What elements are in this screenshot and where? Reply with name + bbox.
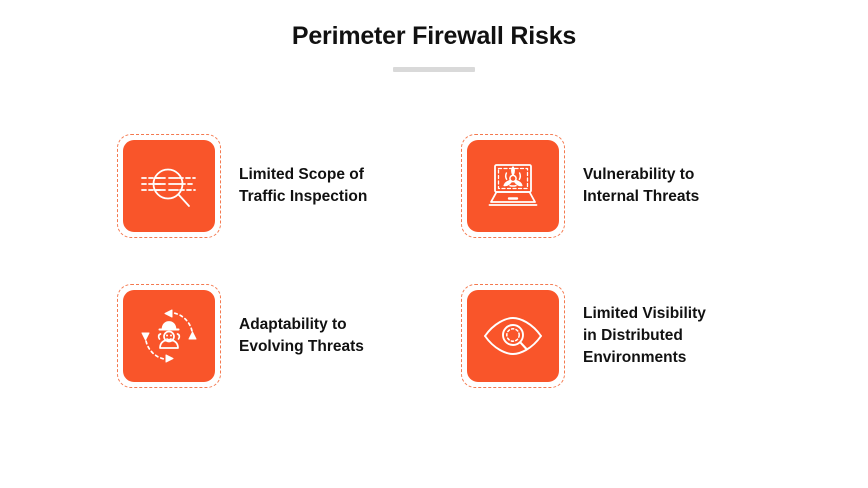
icon-tile-2	[461, 134, 565, 238]
risk-items-grid: Limited Scope of Traffic Inspection	[117, 134, 817, 388]
icon-tile-2-fill	[467, 140, 559, 232]
laptop-biohazard-icon	[484, 161, 542, 211]
slide-canvas: Perimeter Firewall Risks	[0, 0, 868, 488]
risk-item-3-label: Adaptability to Evolving Threats	[239, 314, 364, 358]
risk-item-limited-visibility-in-distributed-environments[interactable]: Limited Visibility in Distributed Enviro…	[461, 284, 805, 388]
risk-item-3-label-line-2: Evolving Threats	[239, 336, 364, 358]
title-block: Perimeter Firewall Risks	[0, 22, 868, 72]
risk-item-4-label: Limited Visibility in Distributed Enviro…	[583, 303, 706, 369]
page-title: Perimeter Firewall Risks	[0, 22, 868, 51]
icon-tile-1	[117, 134, 221, 238]
risk-item-adaptability-to-evolving-threats[interactable]: Adaptability to Evolving Threats	[117, 284, 461, 388]
icon-tile-3-fill	[123, 290, 215, 382]
icon-tile-3	[117, 284, 221, 388]
risk-items-row-2: Adaptability to Evolving Threats	[117, 284, 817, 388]
icon-tile-4	[461, 284, 565, 388]
risk-item-2-label: Vulnerability to Internal Threats	[583, 164, 699, 208]
risk-item-vulnerability-to-internal-threats[interactable]: Vulnerability to Internal Threats	[461, 134, 805, 238]
magnifier-traffic-lines-icon	[139, 158, 199, 214]
icon-tile-1-fill	[123, 140, 215, 232]
eye-magnifier-icon	[482, 314, 544, 358]
risk-item-4-label-line-2: in Distributed	[583, 325, 706, 347]
hacker-rotating-arrows-icon	[141, 308, 197, 364]
risk-items-row-1: Limited Scope of Traffic Inspection	[117, 134, 817, 238]
icon-tile-4-fill	[467, 290, 559, 382]
title-divider	[393, 67, 475, 72]
risk-item-4-label-line-1: Limited Visibility	[583, 303, 706, 325]
risk-item-limited-scope-of-traffic-inspection[interactable]: Limited Scope of Traffic Inspection	[117, 134, 461, 238]
risk-item-1-label: Limited Scope of Traffic Inspection	[239, 164, 367, 208]
risk-item-1-label-line-2: Traffic Inspection	[239, 186, 367, 208]
risk-item-1-label-line-1: Limited Scope of	[239, 164, 367, 186]
risk-item-4-label-line-3: Environments	[583, 347, 706, 369]
risk-item-2-label-line-1: Vulnerability to	[583, 164, 699, 186]
risk-item-2-label-line-2: Internal Threats	[583, 186, 699, 208]
risk-item-3-label-line-1: Adaptability to	[239, 314, 364, 336]
